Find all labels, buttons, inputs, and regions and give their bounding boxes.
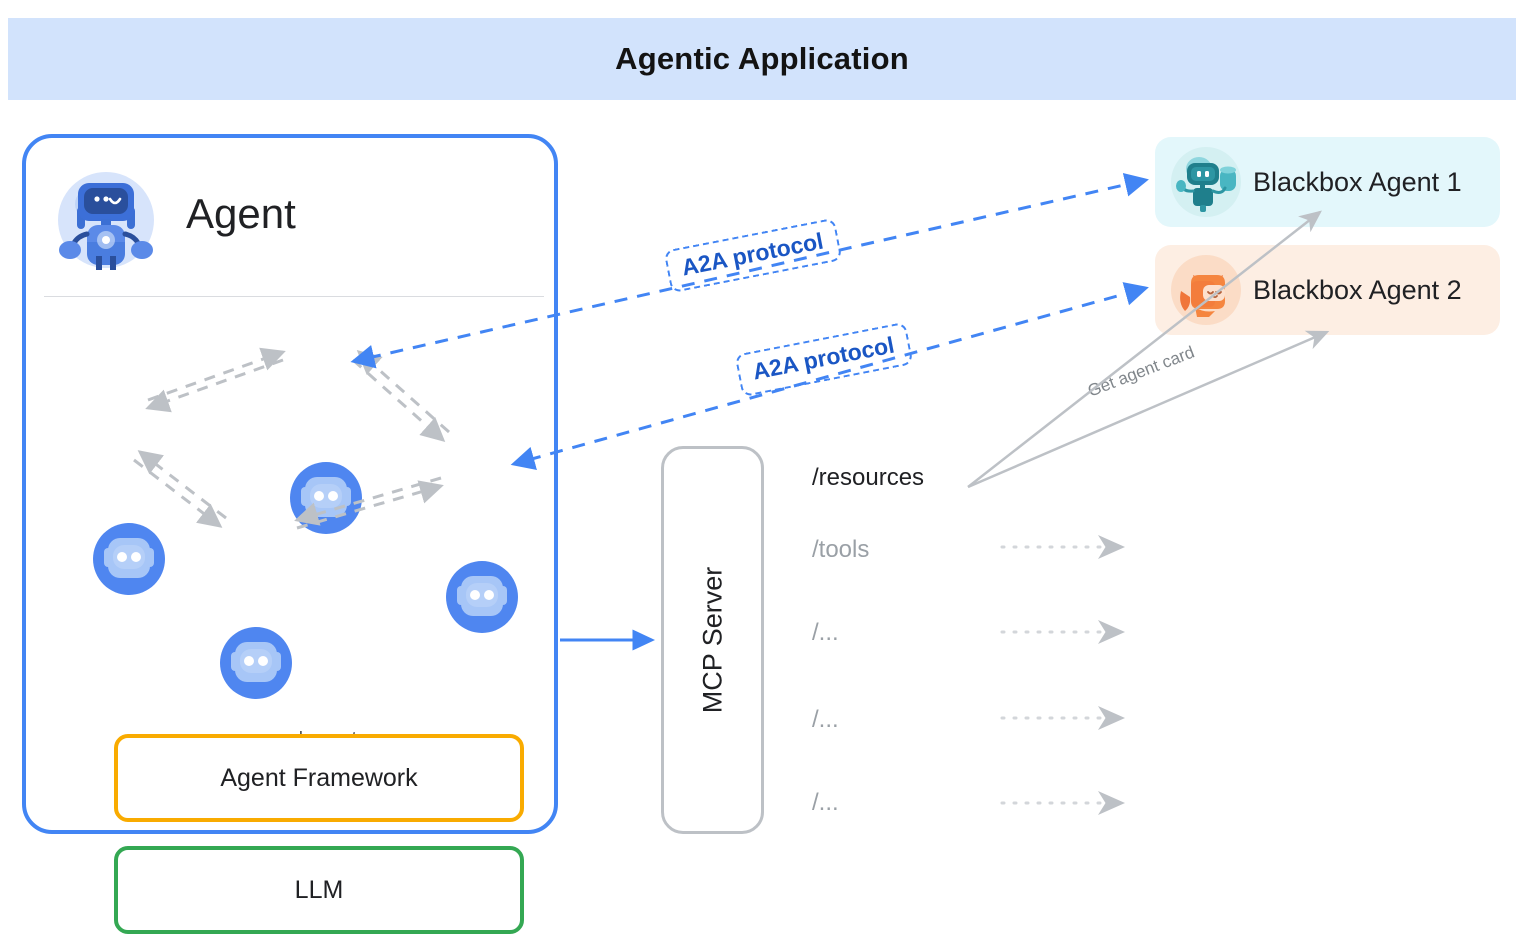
sub-agent-robot-icon[interactable] (288, 460, 364, 536)
blue-robot-avatar-icon (56, 170, 156, 270)
endpoint-row[interactable]: /tools (812, 535, 869, 565)
endpoint-row[interactable]: /... (812, 618, 839, 648)
endpoint-row[interactable]: /... (812, 788, 839, 818)
sub-agent-robot-icon[interactable] (444, 559, 520, 635)
endpoint-label: /resources (812, 464, 924, 492)
blackbox-agent-2-label: Blackbox Agent 2 (1253, 275, 1462, 306)
a2a-protocol-chip: A2A protocol (734, 322, 913, 397)
endpoint-label: /... (812, 619, 839, 647)
agent-framework-label: Agent Framework (220, 764, 417, 793)
agent-framework-box[interactable]: Agent Framework (114, 734, 524, 822)
blackbox-agent-1-label: Blackbox Agent 1 (1253, 167, 1462, 198)
sub-agent-robot-icon[interactable] (91, 521, 167, 597)
llm-label: LLM (295, 876, 344, 905)
endpoint-row[interactable]: /... (812, 705, 839, 735)
endpoint-label: /tools (812, 536, 869, 564)
blackbox-agent-2-panel[interactable]: Blackbox Agent 2 (1155, 245, 1500, 335)
sub-agent-robot-icon[interactable] (218, 625, 294, 701)
llm-box[interactable]: LLM (114, 846, 524, 934)
diagram-canvas: Agentic Application Age (0, 0, 1524, 864)
get-agent-card-label: Get agent card (1085, 343, 1197, 402)
page-title: Agentic Application (615, 41, 909, 77)
endpoint-label: /... (812, 789, 839, 817)
mcp-server-box[interactable]: MCP Server (661, 446, 764, 834)
header-banner: Agentic Application (8, 18, 1516, 100)
sub-agents-area: sub-agents (26, 296, 554, 586)
endpoint-label: /... (812, 706, 839, 734)
endpoint-row[interactable]: /resources (812, 463, 924, 493)
mcp-server-label: MCP Server (697, 567, 728, 714)
orange-cat-avatar-icon (1169, 253, 1243, 327)
teal-robot-avatar-icon (1169, 145, 1243, 219)
agent-card-title: Agent (186, 190, 296, 238)
blackbox-agent-1-panel[interactable]: Blackbox Agent 1 (1155, 137, 1500, 227)
agent-card: Agent (22, 134, 558, 834)
a2a-protocol-chip: A2A protocol (663, 218, 842, 293)
